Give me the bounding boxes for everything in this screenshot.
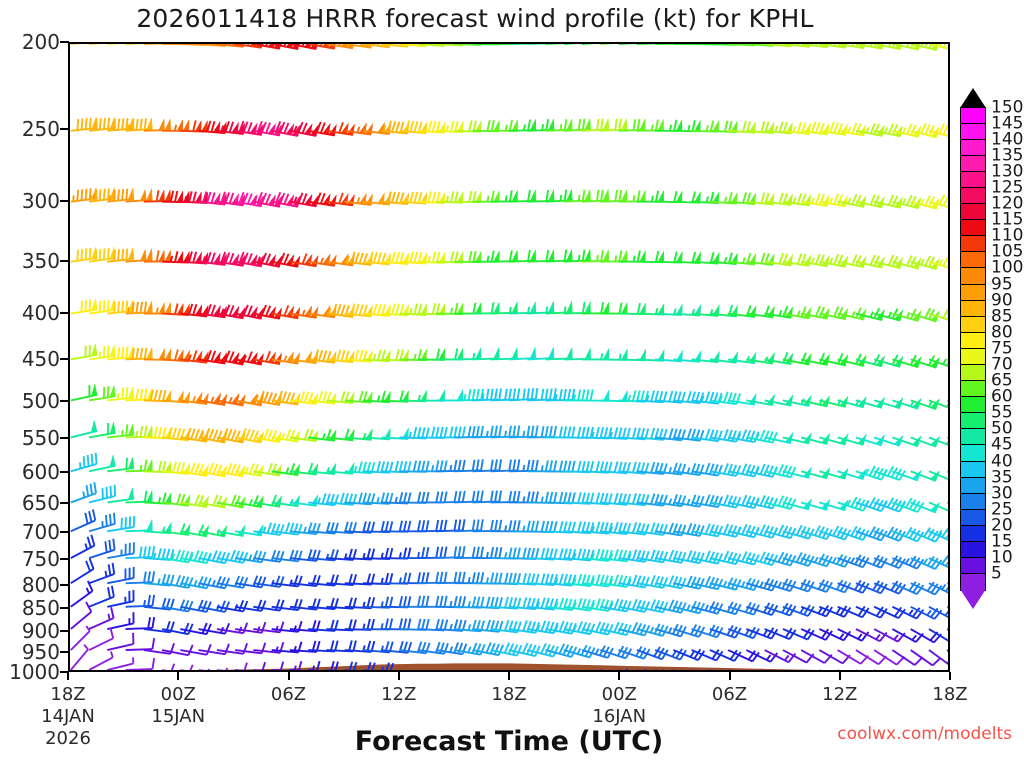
wind-barb [527, 520, 556, 532]
colorbar-swatch[interactable]: 105 [960, 251, 986, 269]
wind-barb [874, 548, 905, 569]
wind-barb [856, 548, 887, 569]
wind-barb [819, 641, 850, 665]
colorbar-swatch[interactable]: 110 [960, 235, 986, 253]
wind-barb [929, 641, 948, 667]
wind-barb [856, 597, 887, 619]
wind-barb [180, 639, 210, 655]
wind-barb [710, 660, 741, 670]
wind-barb [911, 548, 942, 570]
wind-barb [874, 597, 905, 619]
wind-barb [217, 659, 247, 670]
wind-barb [801, 640, 832, 664]
x-axis-date-label: 16JAN [592, 706, 646, 727]
x-axis-tick-label: 12Z [822, 684, 857, 705]
wind-barb [162, 659, 193, 670]
y-axis-tick-mark [60, 358, 69, 360]
y-axis-tick-label: 800 [0, 573, 60, 597]
wind-barb [454, 596, 483, 608]
colorbar-swatch[interactable]: 30 [960, 493, 986, 511]
wind-barb [70, 299, 97, 314]
watermark: coolwx.com/modelts [837, 724, 1012, 744]
wind-barb [125, 301, 152, 313]
y-axis-tick-label: 200 [0, 30, 60, 54]
wind-barb [765, 619, 796, 640]
wind-profile-plot [68, 42, 950, 672]
wind-barb [491, 572, 520, 584]
wind-barb [801, 619, 832, 641]
wind-barb [86, 652, 114, 670]
colorbar-swatch[interactable]: 70 [960, 364, 986, 382]
wind-barb [911, 597, 942, 620]
colorbar-swatch[interactable]: 85 [960, 316, 986, 334]
wind-barb-layer [70, 44, 948, 670]
colorbar-swatch[interactable]: 25 [960, 509, 986, 527]
x-axis-tick-label: 18Z [50, 684, 85, 705]
y-axis-tick-mark [60, 630, 69, 632]
y-axis-tick-mark [60, 584, 69, 586]
wind-barb [746, 640, 777, 663]
wind-barb [85, 563, 116, 583]
wind-barb [85, 607, 116, 629]
wind-barb [87, 385, 115, 400]
wind-barb [70, 188, 97, 202]
colorbar-swatch[interactable]: 20 [960, 525, 986, 543]
wind-barb [892, 492, 923, 513]
colorbar-swatch[interactable]: 115 [960, 219, 986, 237]
wind-barb [106, 346, 134, 359]
wind-barb [70, 453, 99, 472]
wind-barb [106, 387, 134, 401]
wind-barb [710, 640, 741, 662]
wind-barb [673, 640, 704, 661]
wind-barb [856, 573, 887, 594]
wind-barb [874, 641, 904, 666]
wind-barb [345, 659, 375, 670]
wind-barb [838, 597, 869, 618]
colorbar-swatch[interactable]: 150 [960, 107, 986, 125]
wind-barb [819, 619, 850, 641]
wind-barb [692, 640, 723, 661]
wind-barb [70, 626, 91, 650]
wind-barb [106, 188, 134, 202]
wind-barb [162, 303, 189, 315]
x-axis-tick-mark [398, 672, 400, 680]
y-axis-tick-mark [60, 558, 69, 560]
wind-barb [564, 460, 593, 472]
wind-barb [892, 665, 918, 670]
colorbar-tick-label: 5 [991, 564, 1002, 584]
y-axis-tick-label: 500 [0, 389, 60, 413]
wind-barb [692, 660, 723, 670]
wind-barb [70, 344, 97, 359]
colorbar-swatch[interactable]: 90 [960, 300, 986, 318]
wind-barb [106, 424, 134, 438]
colorbar-swatch[interactable]: 95 [960, 284, 986, 302]
x-axis-tick-mark [839, 672, 841, 680]
wind-barb [801, 665, 828, 670]
wind-barb [619, 660, 650, 670]
colorbar[interactable]: 1501451401351301251201151101051009590858… [960, 88, 986, 609]
wind-barb [125, 118, 153, 131]
wind-barb [874, 665, 900, 670]
colorbar-swatch[interactable]: 135 [960, 155, 986, 173]
wind-barb [399, 618, 428, 630]
x-axis-tick-label: 06Z [271, 684, 306, 705]
y-axis-tick-mark [60, 312, 69, 314]
wind-barb [838, 665, 865, 670]
wind-barb [728, 660, 759, 670]
colorbar-swatch[interactable]: 55 [960, 412, 986, 430]
wind-barb [70, 420, 97, 437]
colorbar-swatch[interactable]: 140 [960, 139, 986, 157]
wind-barb [911, 620, 942, 644]
x-axis-tick-label: 06Z [712, 684, 747, 705]
wind-barb [911, 521, 942, 542]
wind-barb [783, 640, 814, 663]
wind-barb [235, 659, 265, 670]
y-axis-tick-mark [60, 260, 69, 262]
wind-barb [838, 641, 868, 665]
x-axis-tick-mark [508, 672, 510, 680]
wind-barb [70, 384, 97, 400]
wind-barb [783, 665, 810, 670]
wind-barb [105, 633, 136, 650]
wind-barb [819, 665, 846, 670]
colorbar-swatch[interactable]: 120 [960, 203, 986, 221]
wind-barb [911, 641, 941, 667]
y-axis-tick-label: 300 [0, 189, 60, 213]
wind-barb [892, 521, 923, 542]
wind-barb [253, 659, 283, 670]
wind-barb [70, 535, 96, 558]
wind-barb [856, 619, 887, 642]
x-axis-tick-label: 00Z [161, 684, 196, 705]
wind-barb [856, 641, 886, 666]
page-title: 2026011418 HRRR forecast wind profile (k… [0, 4, 950, 33]
wind-barb [746, 660, 777, 670]
x-axis-tick-label: 18Z [932, 684, 967, 705]
wind-barb [637, 660, 668, 670]
wind-barb [765, 640, 796, 663]
y-axis-tick-mark [60, 400, 69, 402]
wind-barb [911, 573, 942, 595]
colorbar-swatch[interactable]: 65 [960, 380, 986, 398]
wind-barb [892, 641, 922, 666]
wind-barb [838, 573, 869, 594]
colorbar-swatch[interactable]: 130 [960, 171, 986, 189]
y-axis-tick-mark [60, 607, 69, 609]
colorbar-swatch[interactable]: 50 [960, 428, 986, 446]
wind-barb [70, 247, 97, 262]
x-axis-tick-mark [618, 672, 620, 680]
y-axis-tick-label: 650 [0, 491, 60, 515]
colorbar-swatch[interactable]: 5 [960, 573, 986, 591]
colorbar-swatch[interactable]: 35 [960, 477, 986, 495]
x-axis-date-label: 15JAN [151, 706, 205, 727]
wind-barb [363, 659, 393, 670]
y-axis-tick-label: 700 [0, 520, 60, 544]
wind-barb [70, 117, 97, 131]
wind-barb [509, 547, 538, 559]
wind-barb [85, 586, 116, 607]
y-axis-tick-label: 850 [0, 596, 60, 620]
y-axis-tick-label: 750 [0, 547, 60, 571]
colorbar-swatch[interactable]: 100 [960, 267, 986, 285]
x-axis-tick-label: 00Z [602, 684, 637, 705]
x-axis-tick-mark [177, 672, 179, 680]
y-axis-tick-mark [60, 471, 69, 473]
y-axis-tick-label: 450 [0, 347, 60, 371]
wind-barb [892, 573, 923, 595]
wind-barb [106, 457, 134, 471]
wind-barb [819, 597, 850, 618]
colorbar-swatch[interactable]: 145 [960, 123, 986, 141]
wind-barb [892, 597, 923, 620]
x-axis-tick-mark [67, 672, 69, 680]
x-axis-tick-mark [288, 672, 290, 680]
y-axis-tick-mark [60, 437, 69, 439]
wind-barb [655, 640, 686, 661]
wind-barb [783, 619, 814, 640]
wind-barb [874, 573, 905, 594]
y-axis-tick-label: 600 [0, 460, 60, 484]
wind-barb [874, 619, 905, 642]
x-axis-tick-mark [729, 672, 731, 680]
colorbar-swatch[interactable]: 40 [960, 461, 986, 479]
colorbar-swatch[interactable]: 125 [960, 187, 986, 205]
wind-barb [180, 664, 209, 670]
x-axis-tick-label: 12Z [381, 684, 416, 705]
wind-barb [673, 660, 704, 670]
wind-barb [199, 639, 229, 654]
y-axis-tick-mark [60, 200, 69, 202]
colorbar-swatch[interactable]: 75 [960, 348, 986, 366]
wind-barb [874, 521, 905, 542]
x-axis-tick-mark [949, 672, 951, 680]
y-axis-tick-mark [60, 128, 69, 130]
wind-barb [838, 619, 869, 642]
wind-barb [70, 559, 95, 584]
colorbar-swatch[interactable]: 60 [960, 396, 986, 414]
wind-barb [582, 427, 611, 439]
colorbar-swatch[interactable]: 10 [960, 557, 986, 575]
wind-barb [801, 597, 832, 618]
wind-barb [856, 665, 882, 670]
colorbar-under-arrow [960, 589, 986, 609]
y-axis-tick-label: 1000 [0, 660, 60, 684]
wind-barb [892, 548, 923, 569]
wind-barb [746, 619, 777, 640]
colorbar-swatch[interactable]: 80 [960, 332, 986, 350]
y-axis-tick-label: 350 [0, 249, 60, 273]
wind-barb [70, 482, 98, 502]
wind-barb [728, 640, 759, 662]
y-axis-tick-label: 400 [0, 301, 60, 325]
wind-barb [87, 422, 115, 437]
y-axis-tick-mark [60, 41, 69, 43]
y-axis-tick-label: 550 [0, 426, 60, 450]
y-axis-tick-mark [60, 531, 69, 533]
colorbar-swatch[interactable]: 45 [960, 444, 986, 462]
wind-barb [600, 660, 631, 670]
y-axis-tick-mark [60, 651, 69, 653]
x-axis-tick-label: 18Z [491, 684, 526, 705]
x-axis-label: Forecast Time (UTC) [68, 726, 950, 757]
x-axis-date-label: 14JAN [41, 706, 95, 727]
wind-barb [272, 659, 302, 670]
y-axis-tick-mark [60, 502, 69, 504]
wind-barb [655, 660, 686, 670]
wind-barb [88, 345, 116, 360]
wind-barb [546, 492, 575, 504]
wind-barb [88, 188, 116, 202]
wind-barb [892, 619, 923, 643]
colorbar-over-arrow [960, 88, 986, 108]
wind-barb [70, 581, 94, 607]
colorbar-swatch[interactable]: 15 [960, 541, 986, 559]
y-axis-tick-label: 250 [0, 117, 60, 141]
wind-barb [70, 509, 97, 531]
wind-barb [88, 299, 116, 314]
wind-barb [199, 664, 228, 670]
wind-barb [144, 492, 171, 504]
